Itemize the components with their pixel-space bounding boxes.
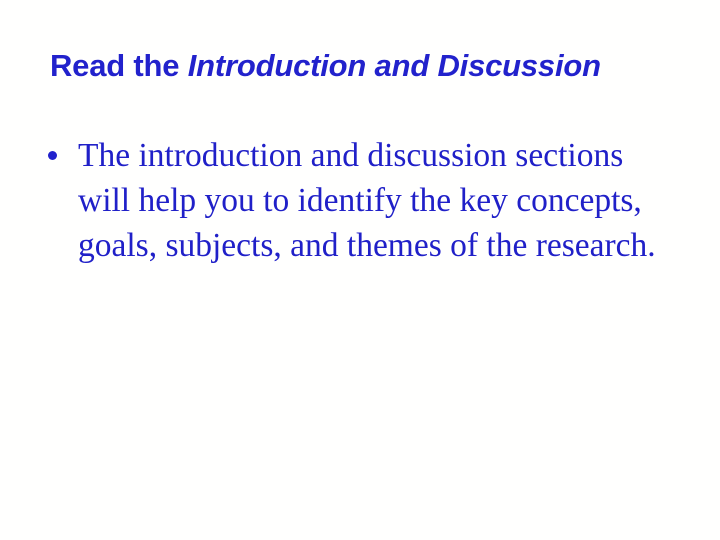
bullet-list: The introduction and discussion sections… [40,133,688,268]
title-lead-text: Read the [50,48,188,83]
bullet-dot-icon [48,151,57,160]
title-emphasis-text: Introduction and Discussion [188,48,601,83]
list-item-label: The introduction and discussion sections… [78,133,678,268]
slide-canvas: Read the Introduction and Discussion The… [0,0,720,540]
list-item: The introduction and discussion sections… [40,133,688,268]
page-title: Read the Introduction and Discussion [50,46,690,86]
